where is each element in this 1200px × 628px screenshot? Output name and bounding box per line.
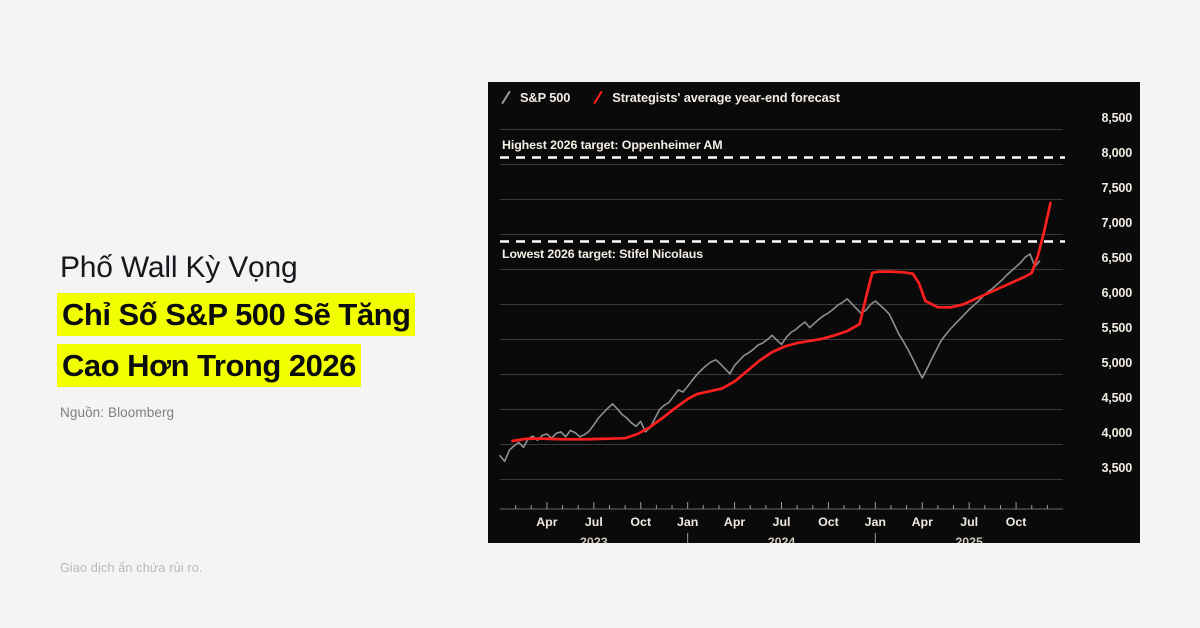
series-line-forecast: [513, 203, 1051, 441]
headline-line-1-row: Phố Wall Kỳ Vọng: [60, 246, 480, 290]
y-axis-label: 7,000: [1101, 216, 1132, 230]
y-axis-label: 5,500: [1101, 321, 1132, 335]
x-axis-year-label: 2024: [768, 535, 796, 543]
x-axis-label: Jul: [960, 515, 978, 529]
source-label: Nguồn: Bloomberg: [60, 405, 174, 420]
x-axis-label: Jan: [677, 515, 698, 529]
headline-line-2: Chỉ Số S&P 500 Sẽ Tăng: [60, 294, 480, 336]
headline-line-3: Cao Hơn Trong 2026: [60, 345, 480, 387]
text-panel: Phố Wall Kỳ Vọng Chỉ Số S&P 500 Sẽ Tăng …: [0, 0, 488, 628]
x-axis-label: Jul: [773, 515, 791, 529]
y-axis-label: 6,500: [1101, 251, 1132, 265]
y-axis-label: 3,500: [1101, 461, 1132, 475]
disclaimer-label: Giao dịch ẩn chứa rủi ro.: [60, 561, 203, 575]
x-axis-label: Apr: [912, 515, 933, 529]
x-axis-label: Jan: [865, 515, 886, 529]
y-axis-label: 7,500: [1101, 181, 1132, 195]
x-axis-label: Apr: [536, 515, 557, 529]
infographic-canvas: Phố Wall Kỳ Vọng Chỉ Số S&P 500 Sẽ Tăng …: [0, 0, 1200, 628]
y-axis-label: 6,000: [1101, 286, 1132, 300]
y-axis-label: 4,500: [1101, 391, 1132, 405]
x-axis-label: Jul: [585, 515, 603, 529]
x-axis-year-label: 2025: [955, 535, 983, 543]
y-axis-label: 4,000: [1101, 426, 1132, 440]
x-axis-label: Oct: [818, 515, 839, 529]
headline-block: Phố Wall Kỳ Vọng Chỉ Số S&P 500 Sẽ Tăng …: [60, 246, 480, 391]
y-axis-label: 5,000: [1101, 356, 1132, 370]
x-axis-label: Oct: [630, 515, 651, 529]
x-axis-label: Oct: [1006, 515, 1027, 529]
x-axis-year-label: 2023: [580, 535, 608, 543]
headline-line-1: Phố Wall Kỳ Vọng: [60, 246, 480, 290]
headline-line-2-row: Chỉ Số S&P 500 Sẽ Tăng: [60, 294, 480, 336]
y-axis-label: 8,000: [1101, 146, 1132, 160]
headline-line-3-row: Cao Hơn Trong 2026: [60, 345, 480, 387]
chart-panel: S&P 500 Strategists' average year-end fo…: [488, 82, 1140, 543]
series-line-sp500: [500, 254, 1040, 461]
annotation-lowest-target: Lowest 2026 target: Stifel Nicolaus: [502, 247, 703, 261]
headline-line-3-text: Cao Hơn Trong 2026: [60, 347, 358, 384]
y-axis-label: 8,500: [1101, 111, 1132, 125]
annotation-highest-target: Highest 2026 target: Oppenheimer AM: [502, 138, 723, 152]
plot-area: 8,5008,0007,5007,0006,5006,0005,5005,000…: [488, 82, 1140, 543]
headline-line-2-text: Chỉ Số S&P 500 Sẽ Tăng: [60, 296, 412, 333]
x-axis-label: Apr: [724, 515, 745, 529]
